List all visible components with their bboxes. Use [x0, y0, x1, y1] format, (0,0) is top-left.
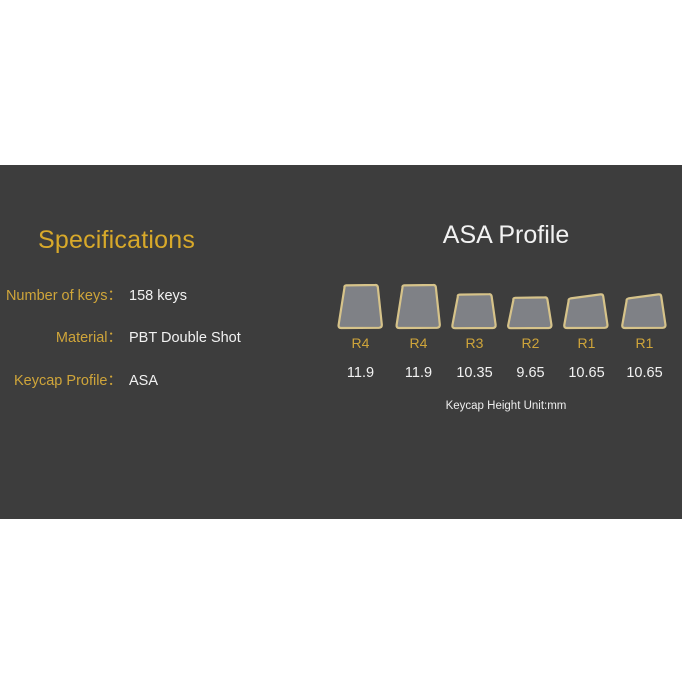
spec-label-material: Material：	[0, 326, 122, 347]
keycap-row-label-2: R4	[392, 335, 445, 351]
keycap-row-label-5: R1	[560, 335, 613, 351]
keycap-row-label-4: R2	[504, 335, 557, 351]
keycap-height-6: 10.65	[618, 365, 671, 381]
keycap-shape-r1-slanted-icon	[618, 293, 671, 331]
keycap-silhouette-row	[330, 269, 682, 331]
keycap-height-3: 10.35	[448, 365, 501, 381]
asa-profile-section: ASA Profile	[330, 165, 682, 519]
spec-value-keycap-profile: ASA	[129, 373, 158, 389]
specifications-title: Specifications	[38, 226, 195, 255]
spec-label-number-of-keys: Number of keys：	[0, 284, 122, 305]
keycap-height-1: 11.9	[334, 365, 387, 381]
asa-profile-title: ASA Profile	[330, 221, 682, 250]
keycap-height-5: 10.65	[560, 365, 613, 381]
keycap-height-value-row: 11.9 11.9 10.35 9.65 10.65 10.65	[330, 365, 682, 385]
keycap-shape-r4-tall-icon	[334, 283, 387, 331]
keycap-row-label-row: R4 R4 R3 R2 R1 R1	[330, 335, 682, 355]
keycap-silhouette-1	[334, 269, 387, 331]
spec-row-number-of-keys: Number of keys： 158 keys	[0, 284, 300, 304]
keycap-height-unit-caption: Keycap Height Unit:mm	[330, 400, 682, 412]
spec-row-material: Material： PBT Double Shot	[0, 326, 300, 346]
keycap-silhouette-5	[560, 269, 613, 331]
keycap-row-label-3: R3	[448, 335, 501, 351]
keycap-shape-r1-slanted-icon	[560, 293, 613, 331]
spec-value-number-of-keys: 158 keys	[129, 288, 187, 304]
specifications-section: Specifications Number of keys： 158 keys …	[0, 165, 330, 519]
keycap-shape-r2-short-icon	[504, 295, 557, 331]
product-spec-panel: Specifications Number of keys： 158 keys …	[0, 165, 682, 519]
keycap-height-4: 9.65	[504, 365, 557, 381]
keycap-silhouette-2	[392, 269, 445, 331]
keycap-silhouette-4	[504, 269, 557, 331]
spec-value-material: PBT Double Shot	[129, 330, 241, 346]
keycap-height-2: 11.9	[392, 365, 445, 381]
keycap-shape-r3-mid-icon	[448, 292, 501, 331]
keycap-silhouette-6	[618, 269, 671, 331]
spec-label-keycap-profile: Keycap Profile：	[0, 369, 122, 390]
keycap-row-label-1: R4	[334, 335, 387, 351]
keycap-row-label-6: R1	[618, 335, 671, 351]
spec-row-keycap-profile: Keycap Profile： ASA	[0, 369, 300, 389]
keycap-shape-r4-tall-icon	[392, 283, 445, 331]
screenshot-canvas: Specifications Number of keys： 158 keys …	[0, 0, 682, 682]
keycap-silhouette-3	[448, 269, 501, 331]
